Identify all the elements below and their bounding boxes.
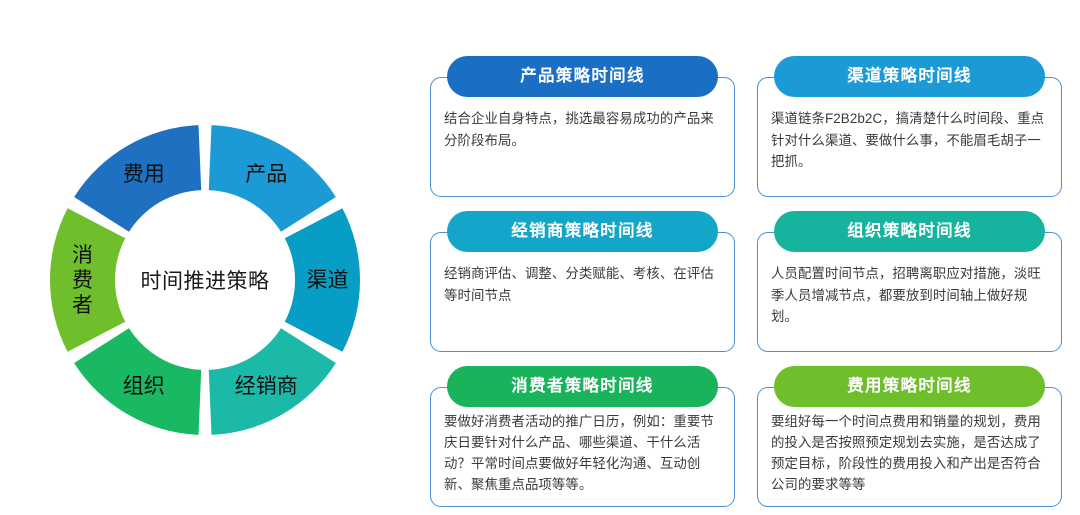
strategy-card-title: 费用策略时间线 <box>847 378 972 395</box>
strategy-card-body: 渠道链条F2B2b2C，搞清楚什么时间段、重点针对什么渠道、要做什么事，不能眉毛… <box>771 108 1050 173</box>
donut-segment-label-1: 渠道 <box>307 269 349 292</box>
strategy-card-1[interactable]: 渠道策略时间线渠道链条F2B2b2C，搞清楚什么时间段、重点针对什么渠道、要做什… <box>757 56 1062 199</box>
strategy-wheel-panel: 产品渠道经销商组织消费者费用 时间推进策略 <box>0 0 420 515</box>
strategy-card-title: 消费者策略时间线 <box>511 378 653 395</box>
donut-segment-label-3: 组织 <box>123 375 165 398</box>
donut-segment-label-4: 消费者 <box>72 244 93 317</box>
strategy-cards-panel: 产品策略时间线结合企业自身特点，挑选最容易成功的产品来分阶段布局。渠道策略时间线… <box>430 56 1060 506</box>
strategy-card-title: 组织策略时间线 <box>847 223 972 240</box>
strategy-card-title: 经销商策略时间线 <box>511 223 653 240</box>
strategy-card-4[interactable]: 消费者策略时间线要做好消费者活动的推广日历，例如：重要节庆日要针对什么产品、哪些… <box>430 366 735 509</box>
strategy-card-0[interactable]: 产品策略时间线结合企业自身特点，挑选最容易成功的产品来分阶段布局。 <box>430 56 735 199</box>
strategy-card-2[interactable]: 经销商策略时间线经销商评估、调整、分类赋能、考核、在评估等时间节点 <box>430 211 735 354</box>
strategy-card-header-1[interactable]: 渠道策略时间线 <box>774 56 1045 97</box>
strategy-card-title: 渠道策略时间线 <box>847 68 972 85</box>
strategy-card-header-0[interactable]: 产品策略时间线 <box>447 56 718 97</box>
strategy-card-5[interactable]: 费用策略时间线要组好每一个时间点费用和销量的规划，费用的投入是否按照预定规划去实… <box>757 366 1062 509</box>
strategy-card-body: 要组好每一个时间点费用和销量的规划，费用的投入是否按照预定规划去实施，是否达成了… <box>771 412 1050 496</box>
strategy-card-body: 人员配置时间节点，招聘离职应对措施，淡旺季人员增减节点，都要放到时间轴上做好规划… <box>771 263 1050 328</box>
strategy-card-header-5[interactable]: 费用策略时间线 <box>774 366 1045 407</box>
donut-segment-label-5: 费用 <box>123 162 165 185</box>
strategy-card-header-4[interactable]: 消费者策略时间线 <box>447 366 718 407</box>
strategy-card-3[interactable]: 组织策略时间线人员配置时间节点，招聘离职应对措施，淡旺季人员增减节点，都要放到时… <box>757 211 1062 354</box>
strategy-card-body: 要做好消费者活动的推广日历，例如：重要节庆日要针对什么产品、哪些渠道、干什么活动… <box>444 412 723 496</box>
donut-segment-label-2: 经销商 <box>235 375 298 398</box>
strategy-card-header-2[interactable]: 经销商策略时间线 <box>447 211 718 252</box>
strategy-donut-chart: 产品渠道经销商组织消费者费用 <box>20 95 390 465</box>
donut-segment-label-0: 产品 <box>245 162 287 185</box>
strategy-card-title: 产品策略时间线 <box>520 68 645 85</box>
strategy-card-body: 结合企业自身特点，挑选最容易成功的产品来分阶段布局。 <box>444 108 723 151</box>
strategy-card-body: 经销商评估、调整、分类赋能、考核、在评估等时间节点 <box>444 263 723 306</box>
strategy-card-header-3[interactable]: 组织策略时间线 <box>774 211 1045 252</box>
strategy-card-grid: 产品策略时间线结合企业自身特点，挑选最容易成功的产品来分阶段布局。渠道策略时间线… <box>430 56 1060 509</box>
